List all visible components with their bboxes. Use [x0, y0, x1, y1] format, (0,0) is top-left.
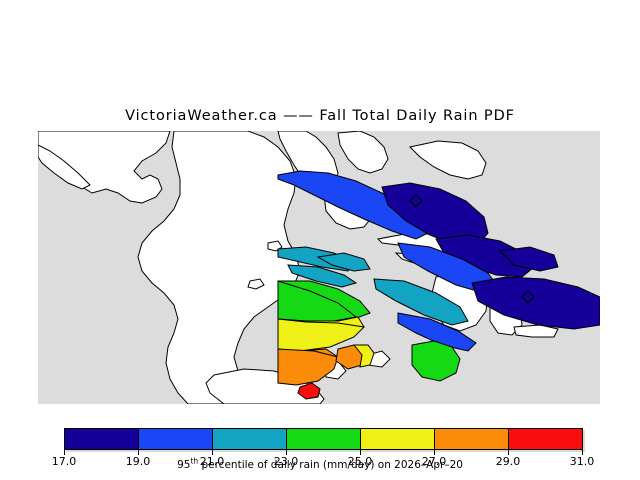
map-panel[interactable] — [38, 131, 600, 404]
colorbar-segment-5[interactable] — [435, 429, 509, 449]
map-canvas — [38, 131, 600, 404]
colorbar-gradient-strip[interactable] — [64, 428, 583, 450]
colorbar-segment-3[interactable] — [287, 429, 361, 449]
screenshot-root: VictoriaWeather.ca —— Fall Total Daily R… — [0, 0, 640, 480]
caption-rest: percentile of daily rain (mm/day) on 202… — [198, 459, 463, 471]
colorbar-segment-6[interactable] — [509, 429, 582, 449]
colorbar[interactable]: 17.019.021.023.025.027.029.031.0 — [64, 428, 583, 450]
caption-percentile-suffix: th — [190, 457, 198, 466]
colorbar-segment-1[interactable] — [139, 429, 213, 449]
vancouver-island-central — [138, 131, 300, 404]
north-island-b — [338, 131, 388, 173]
thin-island-a — [410, 141, 486, 179]
region-metchosin-body — [278, 349, 338, 385]
colorbar-segment-4[interactable] — [361, 429, 435, 449]
region-teal-islet-c — [318, 253, 370, 271]
caption-percentile-number: 95 — [177, 459, 190, 471]
colorbar-segment-0[interactable] — [65, 429, 139, 449]
page-title: VictoriaWeather.ca —— Fall Total Daily R… — [0, 108, 640, 124]
colorbar-caption: 95th percentile of daily rain (mm/day) o… — [0, 459, 640, 471]
colorbar-segment-2[interactable] — [213, 429, 287, 449]
